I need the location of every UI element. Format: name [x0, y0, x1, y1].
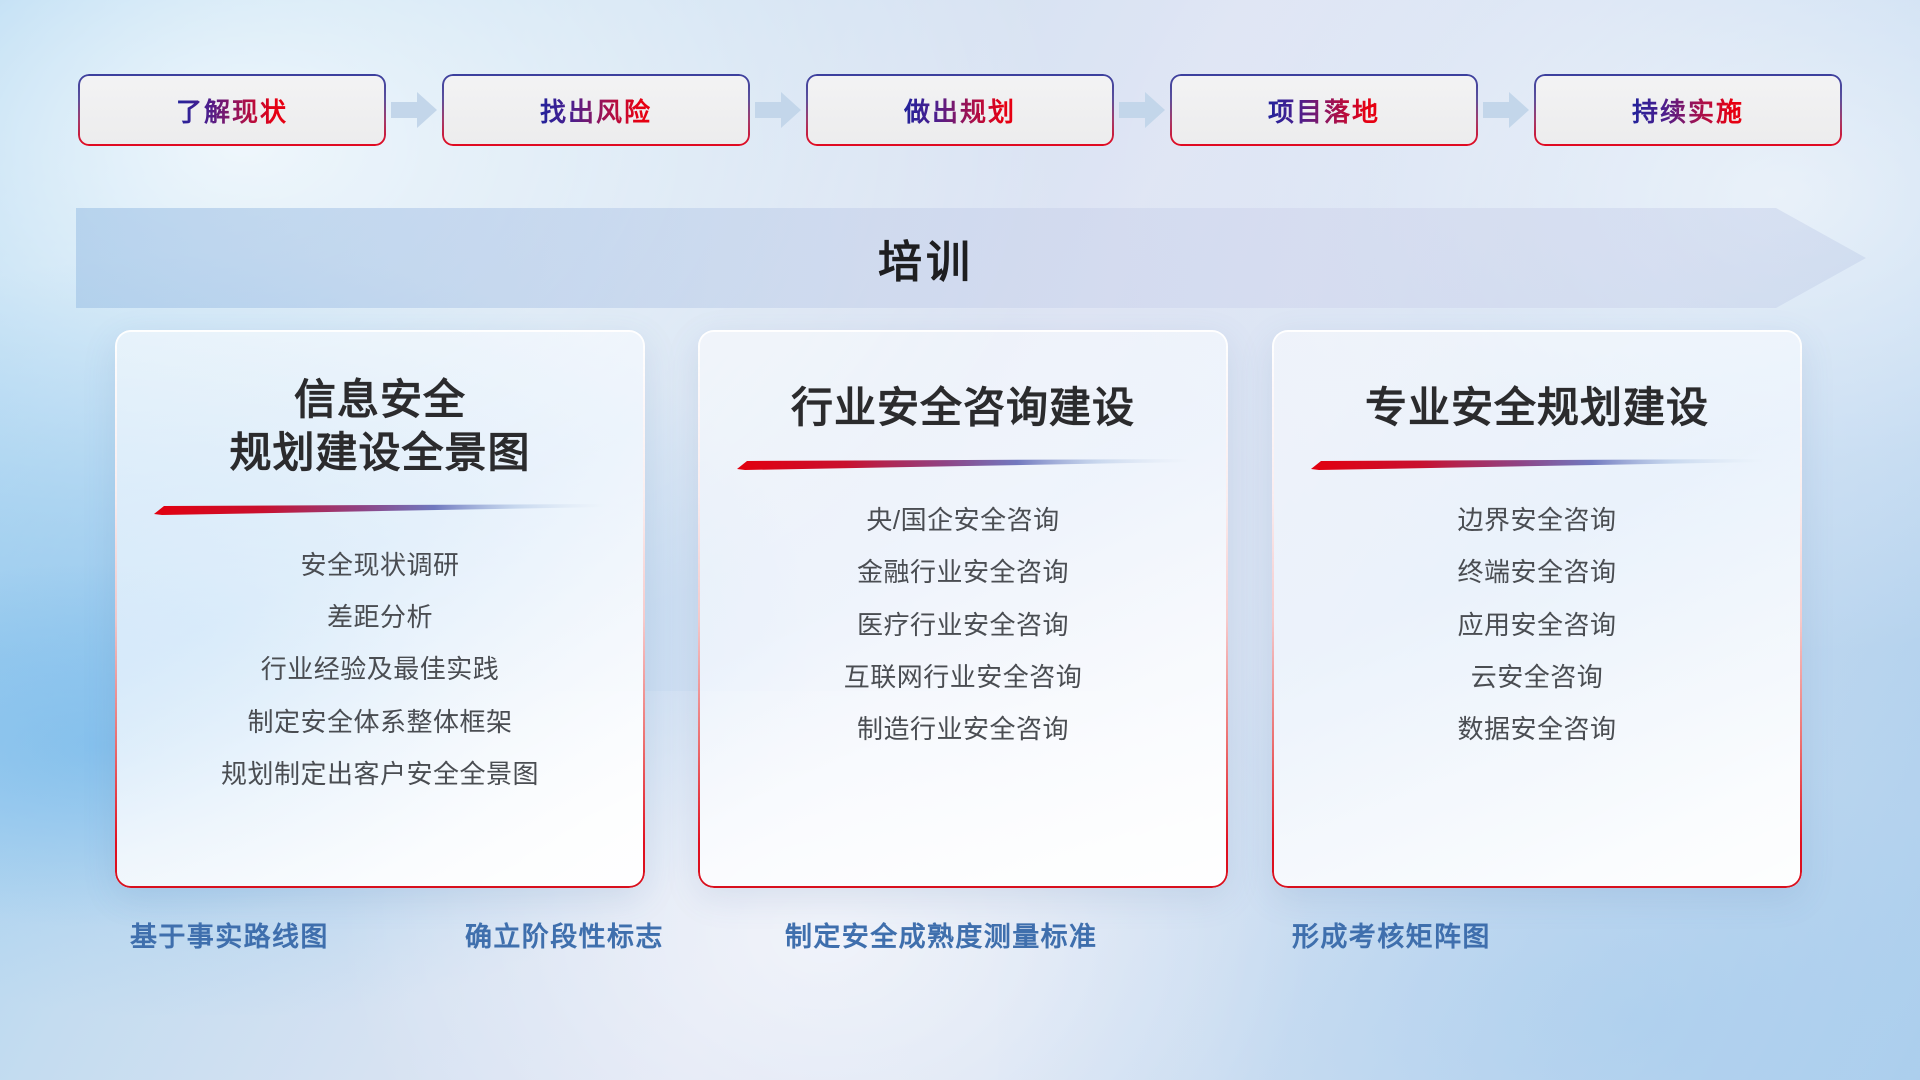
card-industry-security-consulting[interactable]: 行业安全咨询建设	[698, 330, 1228, 888]
arrow-right-icon	[386, 70, 442, 150]
list-item: 央/国企安全咨询	[866, 500, 1059, 540]
process-step-label: 了解现状	[176, 92, 288, 129]
card-title-line: 信息安全	[229, 374, 530, 427]
footnote-4: 形成考核矩阵图	[1292, 915, 1491, 954]
list-item: 安全现状调研	[300, 545, 459, 585]
process-step-1[interactable]: 了解现状	[78, 74, 386, 146]
card-title: 专业安全规划建设	[1365, 382, 1709, 435]
list-item: 行业经验及最佳实践	[261, 649, 500, 689]
arrow-right-icon	[750, 70, 806, 150]
process-steps: 了解现状 找出风险 做出规划 项目落地 持续实施	[0, 70, 1920, 150]
list-item: 数据安全咨询	[1457, 709, 1616, 749]
card-title: 行业安全咨询建设	[791, 382, 1135, 435]
list-item: 金融行业安全咨询	[857, 552, 1069, 592]
list-item: 医疗行业安全咨询	[857, 605, 1069, 645]
footnotes-row: 基于事实路线图 确立阶段性标志 制定安全成熟度测量标准 形成考核矩阵图	[0, 915, 1920, 971]
list-item: 互联网行业安全咨询	[844, 657, 1083, 697]
list-item: 制定安全体系整体框架	[247, 702, 512, 742]
cards-row: 信息安全 规划建设全景图	[0, 330, 1920, 890]
card-information-security-blueprint[interactable]: 信息安全 规划建设全景图	[115, 330, 645, 888]
card-divider	[154, 504, 606, 515]
footnote-2: 确立阶段性标志	[465, 915, 664, 954]
footnote-1: 基于事实路线图	[130, 915, 329, 954]
process-step-3[interactable]: 做出规划	[806, 74, 1114, 146]
list-item: 差距分析	[327, 597, 433, 637]
process-step-5[interactable]: 持续实施	[1534, 74, 1842, 146]
process-step-label: 持续实施	[1632, 92, 1744, 129]
list-item: 应用安全咨询	[1457, 605, 1616, 645]
card-divider	[737, 459, 1189, 470]
list-item: 边界安全咨询	[1457, 500, 1616, 540]
list-item: 云安全咨询	[1471, 657, 1604, 697]
card-item-list: 边界安全咨询 终端安全咨询 应用安全咨询 云安全咨询 数据安全咨询	[1457, 500, 1616, 749]
arrow-right-icon	[1114, 70, 1170, 150]
card-title-line: 行业安全咨询建设	[791, 382, 1135, 435]
card-item-list: 央/国企安全咨询 金融行业安全咨询 医疗行业安全咨询 互联网行业安全咨询 制造行…	[844, 500, 1083, 749]
process-step-2[interactable]: 找出风险	[442, 74, 750, 146]
process-step-4[interactable]: 项目落地	[1170, 74, 1478, 146]
process-step-label: 项目落地	[1268, 92, 1380, 129]
card-professional-security-planning[interactable]: 专业安全规划建设	[1272, 330, 1802, 888]
card-title-line: 专业安全规划建设	[1365, 382, 1709, 435]
training-banner: 培训	[76, 208, 1866, 308]
list-item: 制造行业安全咨询	[857, 709, 1069, 749]
footnote-3: 制定安全成熟度测量标准	[785, 915, 1097, 954]
process-step-label: 做出规划	[904, 92, 1016, 129]
card-item-list: 安全现状调研 差距分析 行业经验及最佳实践 制定安全体系整体框架 规划制定出客户…	[221, 545, 539, 794]
card-title: 信息安全 规划建设全景图	[229, 374, 530, 480]
arrow-right-icon	[1478, 70, 1534, 150]
list-item: 终端安全咨询	[1457, 552, 1616, 592]
process-step-label: 找出风险	[540, 92, 652, 129]
card-title-line: 规划建设全景图	[229, 427, 530, 480]
card-divider	[1311, 459, 1763, 470]
list-item: 规划制定出客户安全全景图	[221, 754, 539, 794]
banner-title: 培训	[76, 208, 1776, 308]
